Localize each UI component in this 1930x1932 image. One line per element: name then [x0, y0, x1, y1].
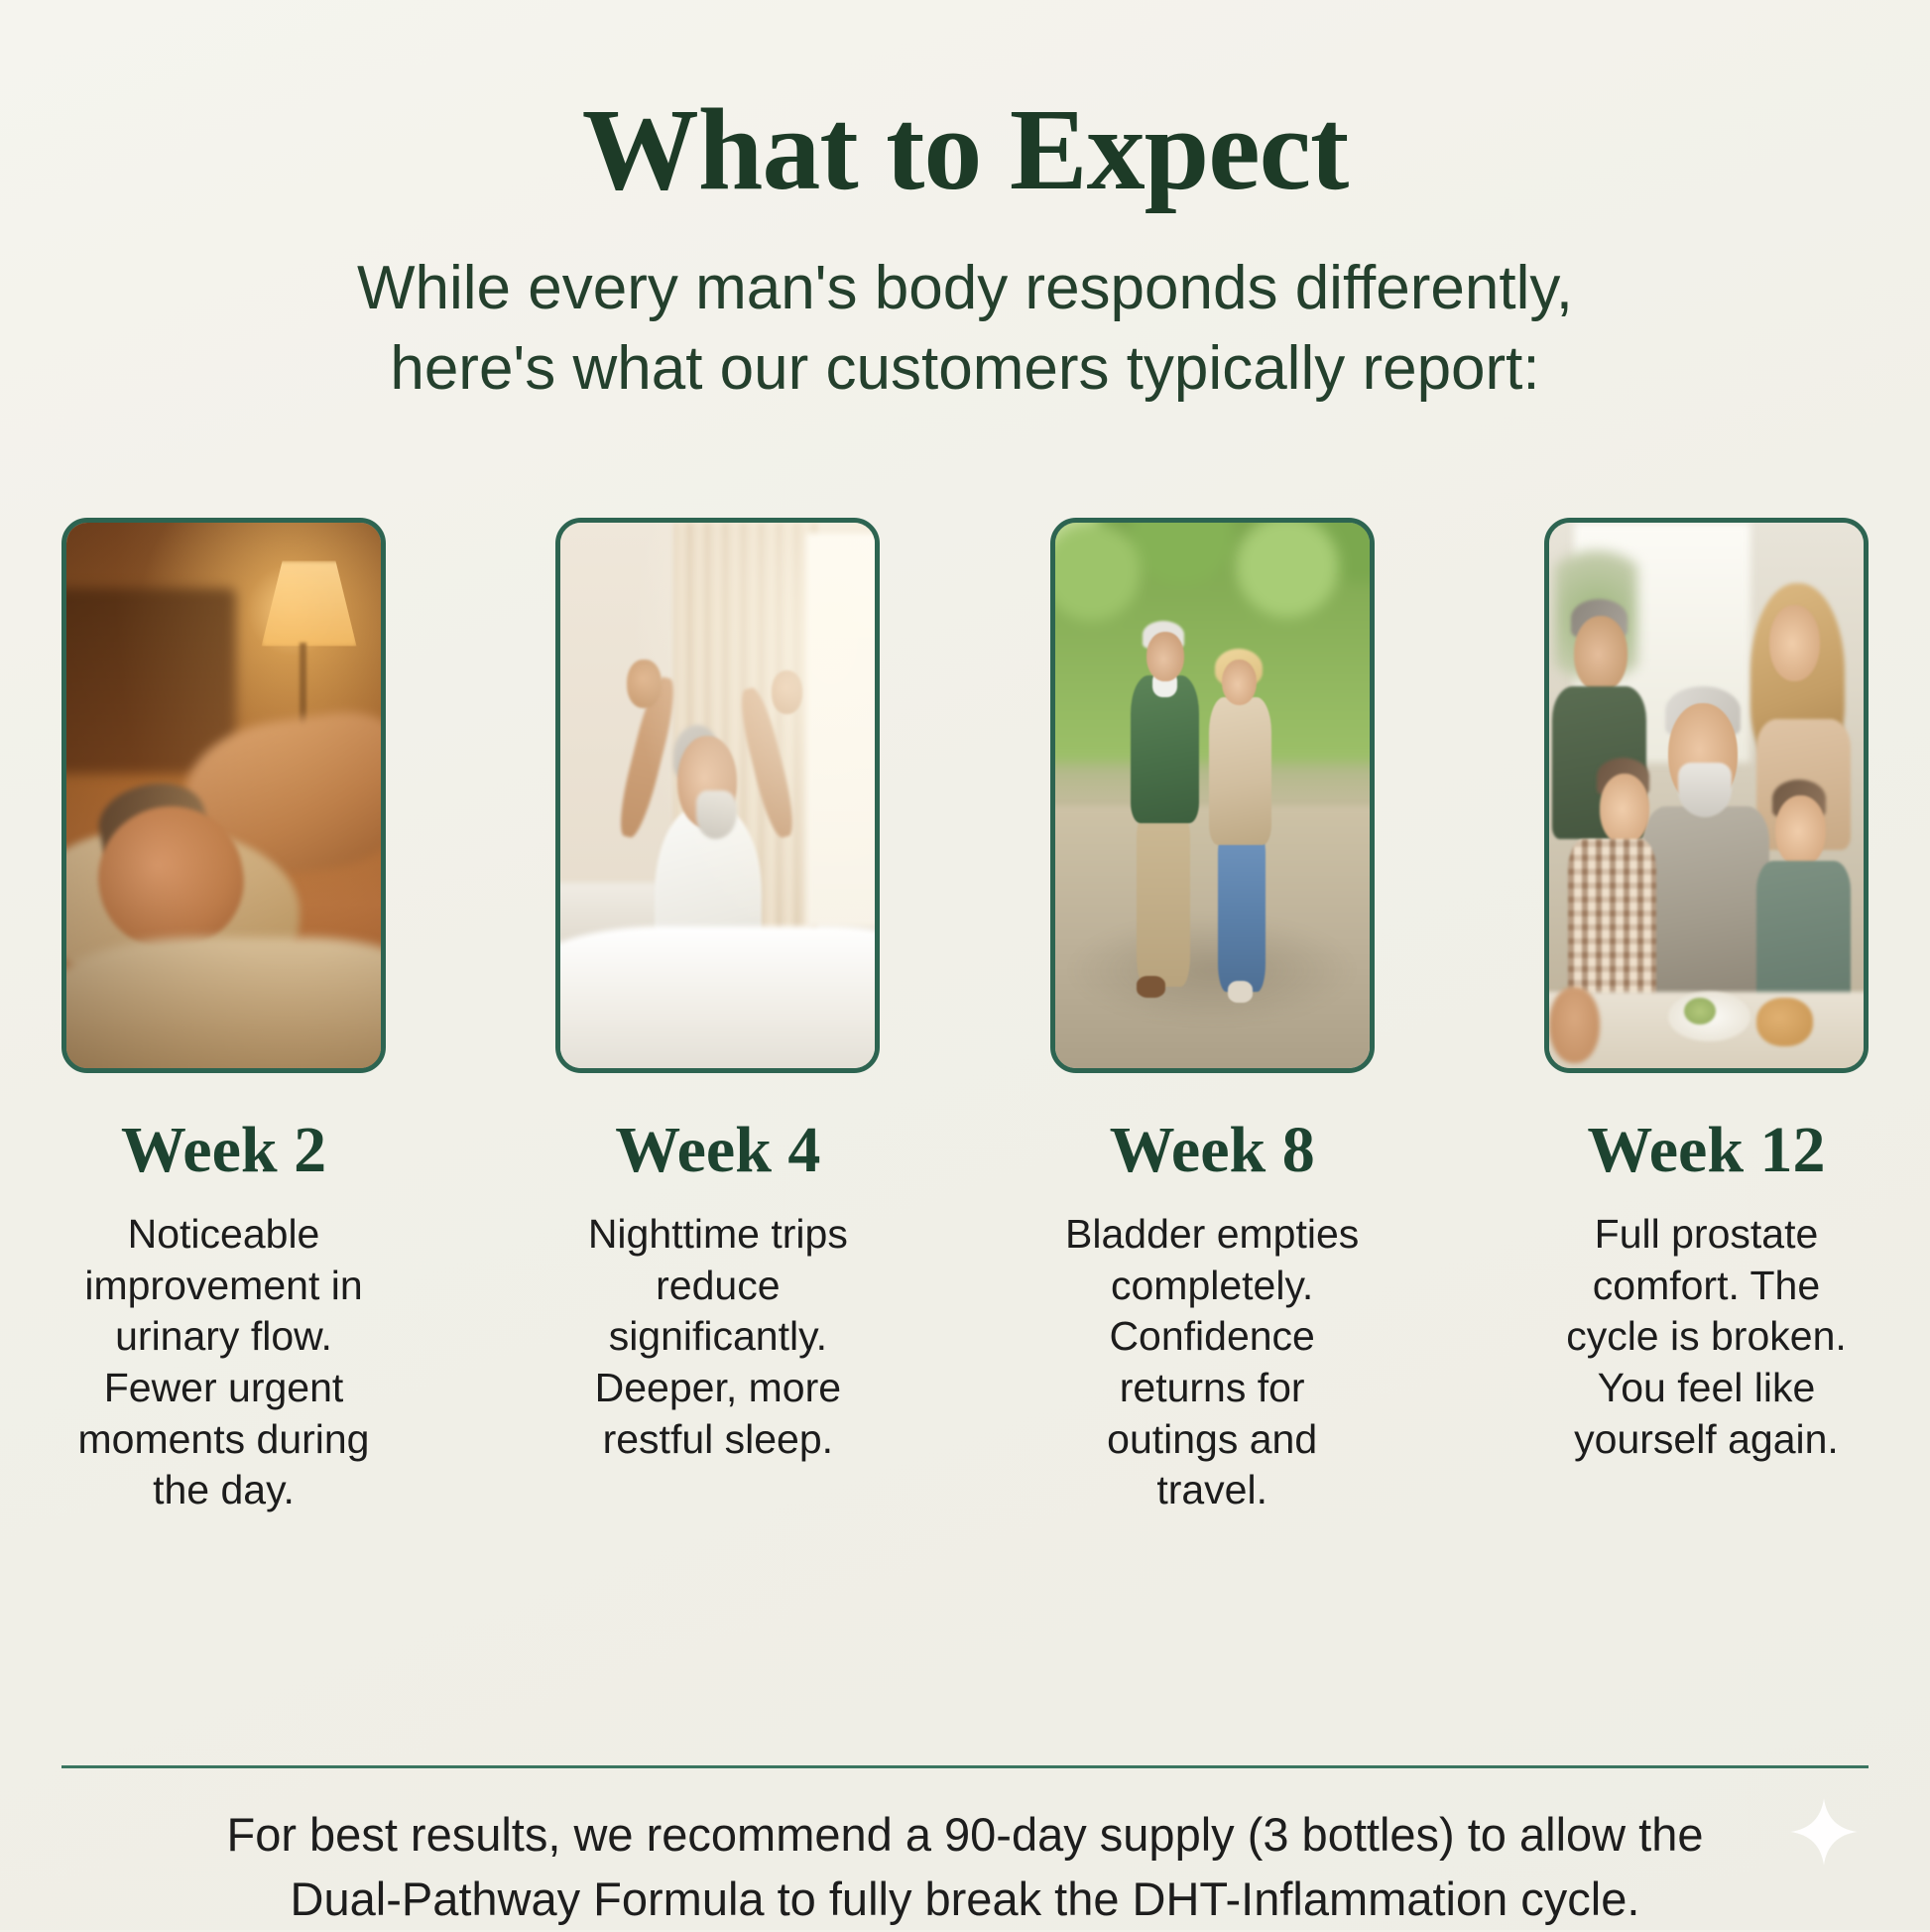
week-label: Week 2 [61, 1118, 386, 1183]
photo-man-sleeping [66, 523, 381, 1068]
week-description: Nighttime trips reduce significantly. De… [555, 1209, 880, 1465]
photo-couple-walking [1055, 523, 1370, 1068]
week-label: Week 4 [555, 1118, 880, 1183]
footer-line-2: Dual-Pathway Formula to fully break the … [0, 1868, 1930, 1932]
photo-frame-week-4 [555, 518, 880, 1073]
week-label: Week 12 [1544, 1118, 1869, 1183]
timeline-cards: Week 2 Noticeable improvement in urinary… [61, 518, 1869, 1516]
week-description: Bladder empties completely. Confidence r… [1050, 1209, 1375, 1516]
what-to-expect-infographic: What to Expect While every man's body re… [0, 0, 1930, 1930]
photo-family-at-table [1549, 523, 1864, 1068]
subtitle: While every man's body responds differen… [305, 249, 1625, 409]
footer-line-1: For best results, we recommend a 90-day … [0, 1803, 1930, 1868]
photo-man-stretching [560, 523, 875, 1068]
week-label: Week 8 [1050, 1118, 1375, 1183]
week-description: Full prostate comfort. The cycle is brok… [1544, 1209, 1869, 1465]
footer-divider [61, 1765, 1869, 1768]
subtitle-line-1: While every man's body responds differen… [305, 249, 1625, 329]
timeline-card-week-2: Week 2 Noticeable improvement in urinary… [61, 518, 386, 1516]
photo-frame-week-8 [1050, 518, 1375, 1073]
photo-frame-week-2 [61, 518, 386, 1073]
sparkle-icon [1789, 1797, 1859, 1867]
photo-frame-week-12 [1544, 518, 1869, 1073]
subtitle-line-2: here's what our customers typically repo… [305, 329, 1625, 410]
footer-note: For best results, we recommend a 90-day … [0, 1803, 1930, 1932]
timeline-card-week-4: Week 4 Nighttime trips reduce significan… [555, 518, 880, 1516]
timeline-card-week-12: Week 12 Full prostate comfort. The cycle… [1544, 518, 1869, 1516]
header: What to Expect While every man's body re… [0, 0, 1930, 409]
timeline-card-week-8: Week 8 Bladder empties completely. Confi… [1050, 518, 1375, 1516]
page-title: What to Expect [0, 87, 1930, 211]
week-description: Noticeable improvement in urinary flow. … [61, 1209, 386, 1516]
